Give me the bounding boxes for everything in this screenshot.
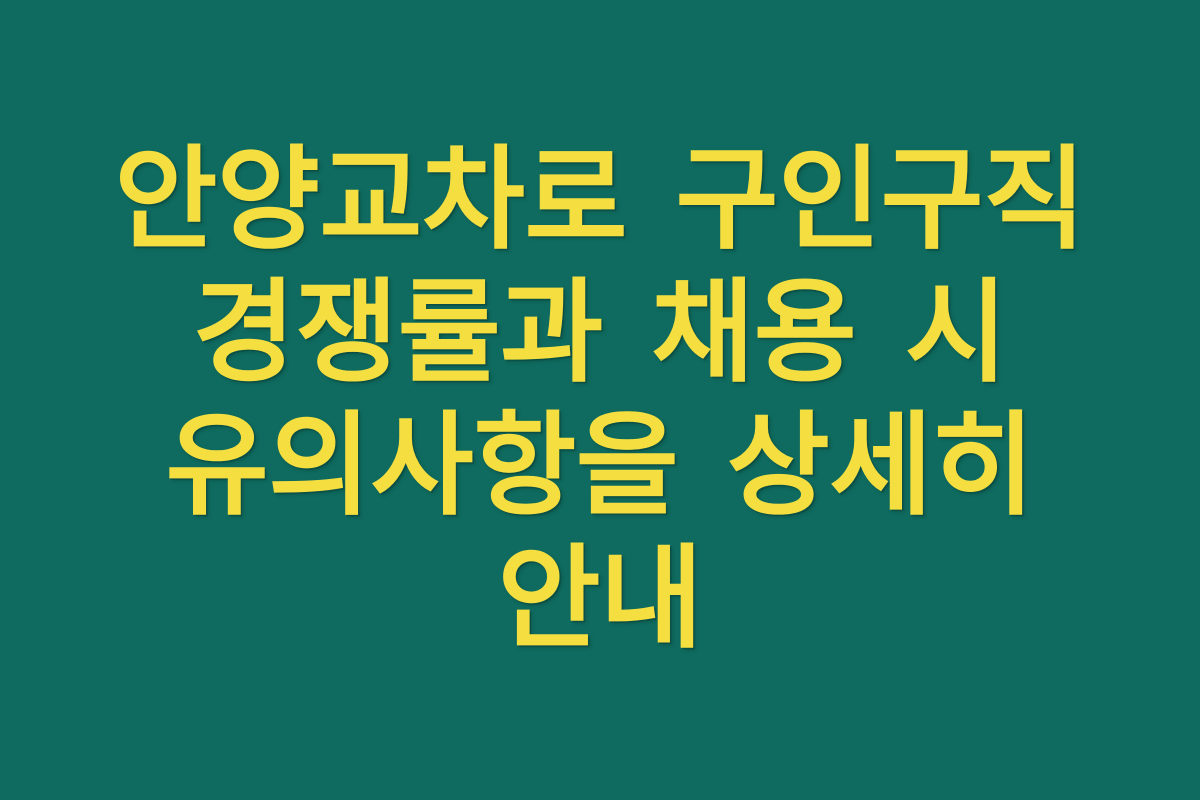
banner-headline: 안양교차로 구인구직 경쟁률과 채용 시 유의사항을 상세히 안내	[72, 134, 1128, 666]
headline-block: 안양교차로 구인구직 경쟁률과 채용 시 유의사항을 상세히 안내	[0, 134, 1200, 666]
banner-canvas: 안양교차로 구인구직 경쟁률과 채용 시 유의사항을 상세히 안내	[0, 0, 1200, 800]
